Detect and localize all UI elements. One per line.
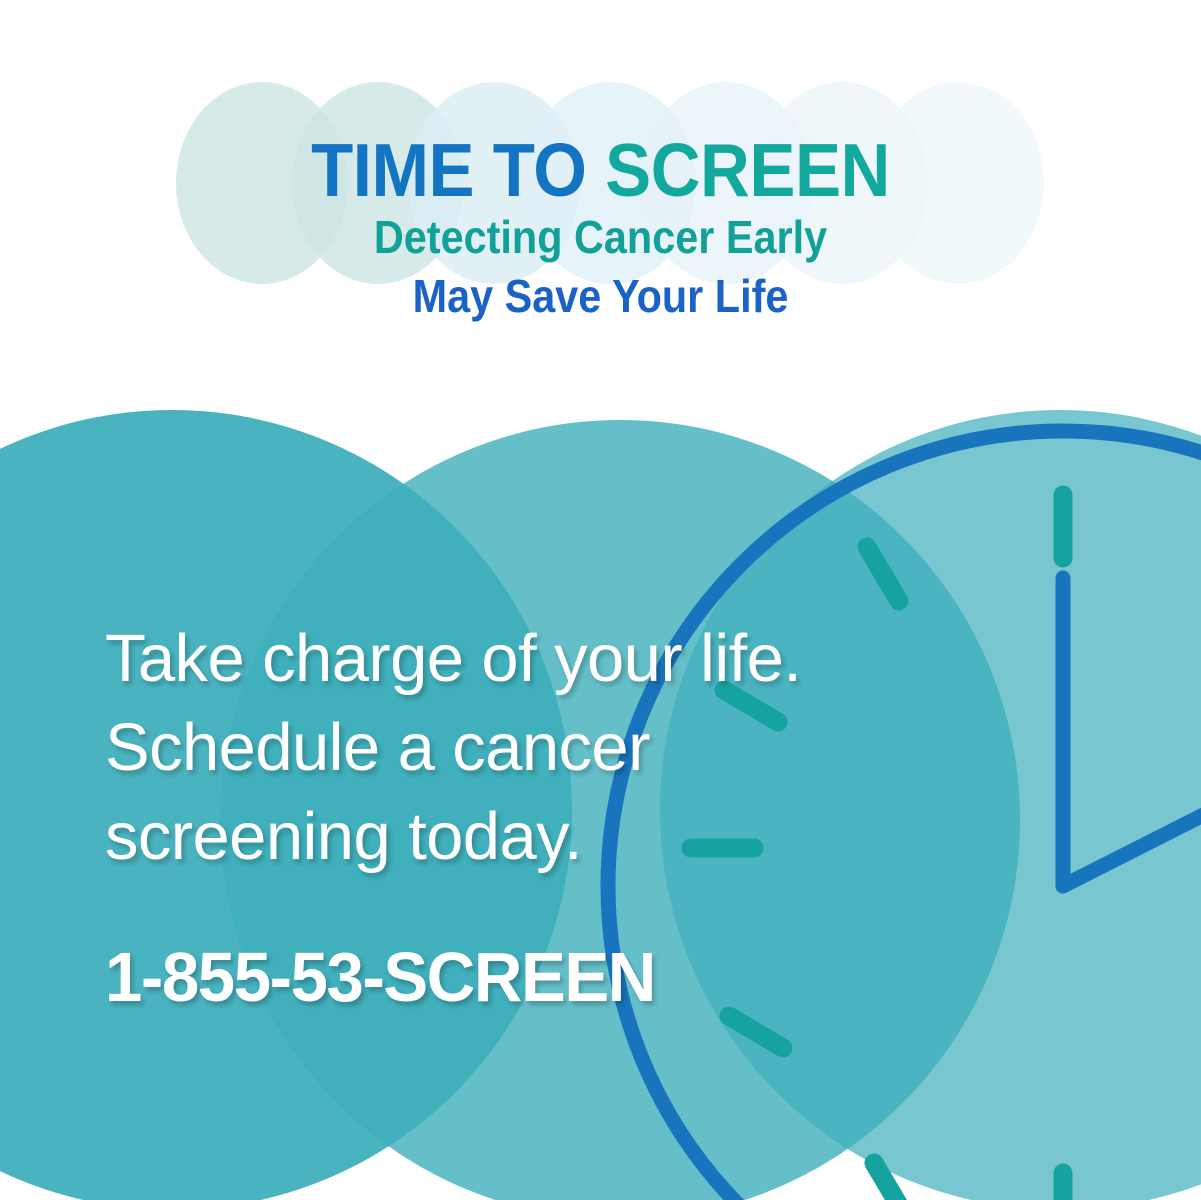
- logo-text-block: TIME TO SCREEN Detecting Cancer Early Ma…: [0, 133, 1201, 326]
- poster-canvas: TIME TO SCREEN Detecting Cancer Early Ma…: [0, 0, 1201, 1200]
- tagline-line-2: May Save Your Life: [60, 267, 1141, 326]
- wordmark: TIME TO SCREEN: [48, 133, 1153, 208]
- headline-line-3: screening today.: [105, 792, 945, 881]
- headline-line-1: Take charge of your life.: [105, 614, 945, 703]
- phone-number[interactable]: 1-855-53-SCREEN: [105, 937, 911, 1017]
- wordmark-part-screen: SCREEN: [605, 128, 890, 212]
- message-block: Take charge of your life. Schedule a can…: [105, 614, 945, 1017]
- logo-lockup: TIME TO SCREEN Detecting Cancer Early Ma…: [0, 0, 1201, 400]
- tagline-line-1: Detecting Cancer Early: [60, 208, 1141, 267]
- headline-line-2: Schedule a cancer: [105, 703, 945, 792]
- wordmark-part-time-to: TIME TO: [311, 128, 605, 212]
